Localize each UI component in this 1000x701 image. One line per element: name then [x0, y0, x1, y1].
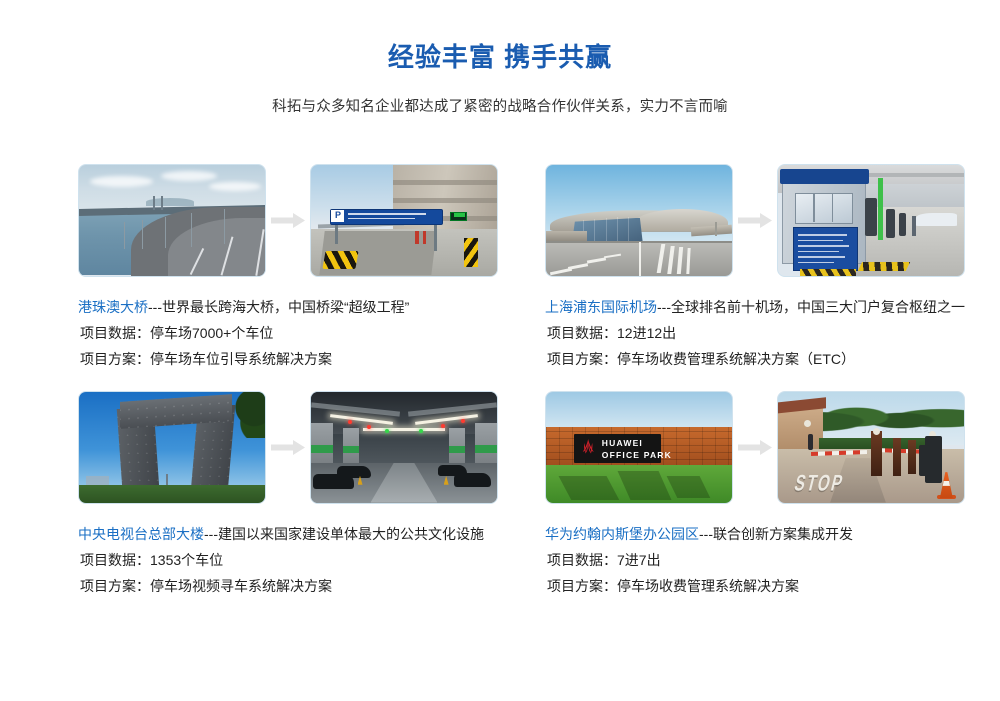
hong-kong-zhuhai-macao-bridge-photo: [78, 164, 266, 277]
case-desc: ---建国以来国家建设单体最大的公共文化设施: [204, 526, 484, 542]
case-solution: 项目方案：停车场收费管理系统解决方案: [545, 573, 990, 599]
toll-booth-etc-lane-photo: [777, 164, 965, 277]
case-solution: 项目方案：停车场视频寻车系统解决方案: [78, 573, 523, 599]
case-desc: ---全球排名前十机场，中国三大门户复合枢纽之一: [657, 299, 965, 315]
case-solution: 项目方案：停车场车位引导系统解决方案: [78, 346, 523, 372]
shanghai-pudong-airport-terminal-photo: [545, 164, 733, 277]
case-grid: P 港珠澳大桥---世界最: [0, 160, 1000, 599]
case-text-block: 港珠澳大桥---世界最长跨海大桥，中国桥梁“超级工程” 项目数据：停车场7000…: [78, 280, 523, 372]
arrow-right-icon: [733, 160, 777, 280]
case-image-pair: P: [78, 160, 523, 280]
case-name: 中央电视台总部大楼: [78, 526, 204, 542]
case-image-pair: HUAWEI OFFICE PARK: [545, 387, 990, 507]
case-image-pair: [545, 160, 990, 280]
case-desc: ---世界最长跨海大桥，中国桥梁“超级工程”: [148, 299, 409, 315]
case-solution: 项目方案：停车场收费管理系统解决方案（ETC）: [545, 346, 990, 372]
case-text-block: 上海浦东国际机场---全球排名前十机场，中国三大门户复合枢纽之一 项目数据：12…: [545, 280, 990, 372]
case-text-block: 华为约翰内斯堡办公园区---联合创新方案集成开发 项目数据：7进7出 项目方案：…: [545, 507, 990, 599]
case-text-block: 中央电视台总部大楼---建国以来国家建设单体最大的公共文化设施 项目数据：135…: [78, 507, 523, 599]
case-data: 项目数据：1353个车位: [78, 547, 523, 573]
case-name: 港珠澳大桥: [78, 299, 148, 315]
case-name: 华为约翰内斯堡办公园区: [545, 526, 699, 542]
case-card-huawei[interactable]: HUAWEI OFFICE PARK: [545, 387, 990, 599]
huawei-brand-text: HUAWEI: [602, 438, 643, 448]
case-heading: 上海浦东国际机场---全球排名前十机场，中国三大门户复合枢纽之一: [545, 294, 990, 320]
case-heading: 中央电视台总部大楼---建国以来国家建设单体最大的公共文化设施: [78, 521, 523, 547]
case-data: 项目数据：12进12出: [545, 320, 990, 346]
case-heading: 华为约翰内斯堡办公园区---联合创新方案集成开发: [545, 521, 990, 547]
page-root: 经验丰富 携手共赢 科拓与众多知名企业都达成了紧密的战略合作伙伴关系，实力不言而…: [0, 0, 1000, 701]
case-card-hzmb[interactable]: P 港珠澳大桥---世界最: [78, 160, 523, 372]
case-row-1: P 港珠澳大桥---世界最: [0, 160, 1000, 372]
underground-parking-garage-photo: [310, 391, 498, 504]
page-header: 经验丰富 携手共赢 科拓与众多知名企业都达成了紧密的战略合作伙伴关系，实力不言而…: [0, 0, 1000, 118]
case-card-cctv[interactable]: 中央电视台总部大楼---建国以来国家建设单体最大的公共文化设施 项目数据：135…: [78, 387, 523, 599]
case-data: 项目数据：停车场7000+个车位: [78, 320, 523, 346]
arrow-right-icon: [266, 387, 310, 507]
case-desc: ---联合创新方案集成开发: [699, 526, 853, 542]
gate-barrier-stop-road-photo: STOP: [777, 391, 965, 504]
case-data: 项目数据：7进7出: [545, 547, 990, 573]
page-title: 经验丰富 携手共赢: [0, 40, 1000, 74]
huawei-office-park-sign-photo: HUAWEI OFFICE PARK: [545, 391, 733, 504]
cctv-headquarters-building-photo: [78, 391, 266, 504]
case-image-pair: [78, 387, 523, 507]
stop-road-marking: STOP: [792, 473, 846, 496]
case-heading: 港珠澳大桥---世界最长跨海大桥，中国桥梁“超级工程”: [78, 294, 523, 320]
page-subtitle: 科拓与众多知名企业都达成了紧密的战略合作伙伴关系，实力不言而喻: [0, 74, 1000, 118]
parking-sign-letter: P: [331, 210, 344, 222]
parking-lot-entrance-sign-photo: P: [310, 164, 498, 277]
huawei-park-text: OFFICE PARK: [602, 450, 672, 460]
huawei-logo-icon: [578, 437, 598, 457]
case-name: 上海浦东国际机场: [545, 299, 657, 315]
case-row-2: 中央电视台总部大楼---建国以来国家建设单体最大的公共文化设施 项目数据：135…: [0, 387, 1000, 599]
arrow-right-icon: [266, 160, 310, 280]
arrow-right-icon: [733, 387, 777, 507]
case-card-pvg[interactable]: 上海浦东国际机场---全球排名前十机场，中国三大门户复合枢纽之一 项目数据：12…: [545, 160, 990, 372]
